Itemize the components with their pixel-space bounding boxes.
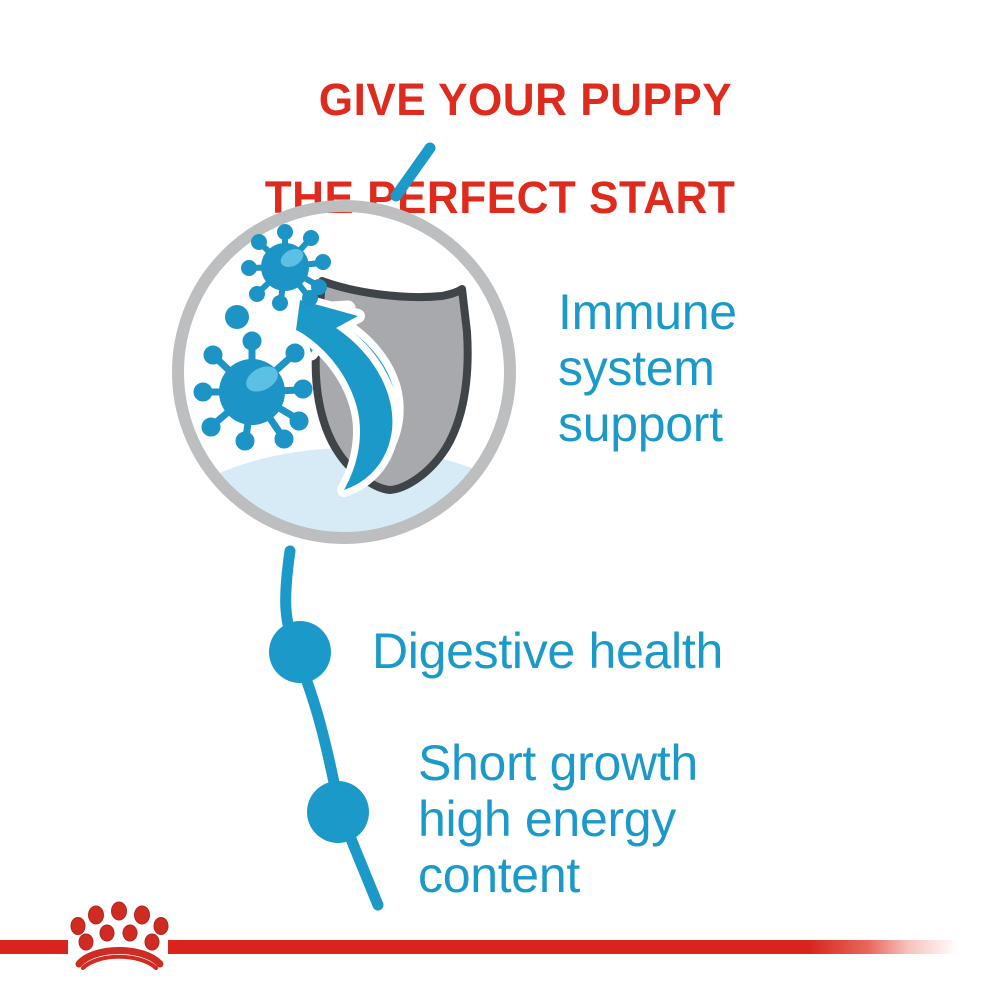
connector-line <box>286 551 378 905</box>
connector-top-segment <box>396 148 430 196</box>
benefit-immune-line-3: support <box>558 396 878 452</box>
benefit-immune-line-2: system <box>558 340 878 396</box>
connector-node-growth <box>307 781 369 843</box>
virus-small-icon <box>242 225 331 311</box>
benefit-immune-line-1: Immune <box>558 284 878 340</box>
benefit-growth-line-2: high energy <box>418 791 868 847</box>
immune-system-support-icon <box>142 206 562 672</box>
crown-base-arc-inner <box>83 957 156 968</box>
virus-large-icon <box>194 332 312 450</box>
infographic-page: GIVE YOUR PUPPY THE PERFECT START <box>0 0 1000 1000</box>
royal-canin-crown-logo <box>66 900 174 970</box>
benefit-digestive-line-1: Digestive health <box>372 623 892 679</box>
brand-bar-right-segment <box>168 940 1000 954</box>
benefit-label-growth: Short growth high energy content <box>418 735 868 903</box>
benefit-growth-line-3: content <box>418 847 868 903</box>
small-blue-dot-icon <box>225 305 249 329</box>
connector-node-digestive <box>269 621 331 683</box>
benefit-growth-line-1: Short growth <box>418 735 868 791</box>
brand-bar-left-segment <box>0 940 68 954</box>
benefit-label-digestive: Digestive health <box>372 623 892 679</box>
benefit-label-immune: Immune system support <box>558 284 878 452</box>
